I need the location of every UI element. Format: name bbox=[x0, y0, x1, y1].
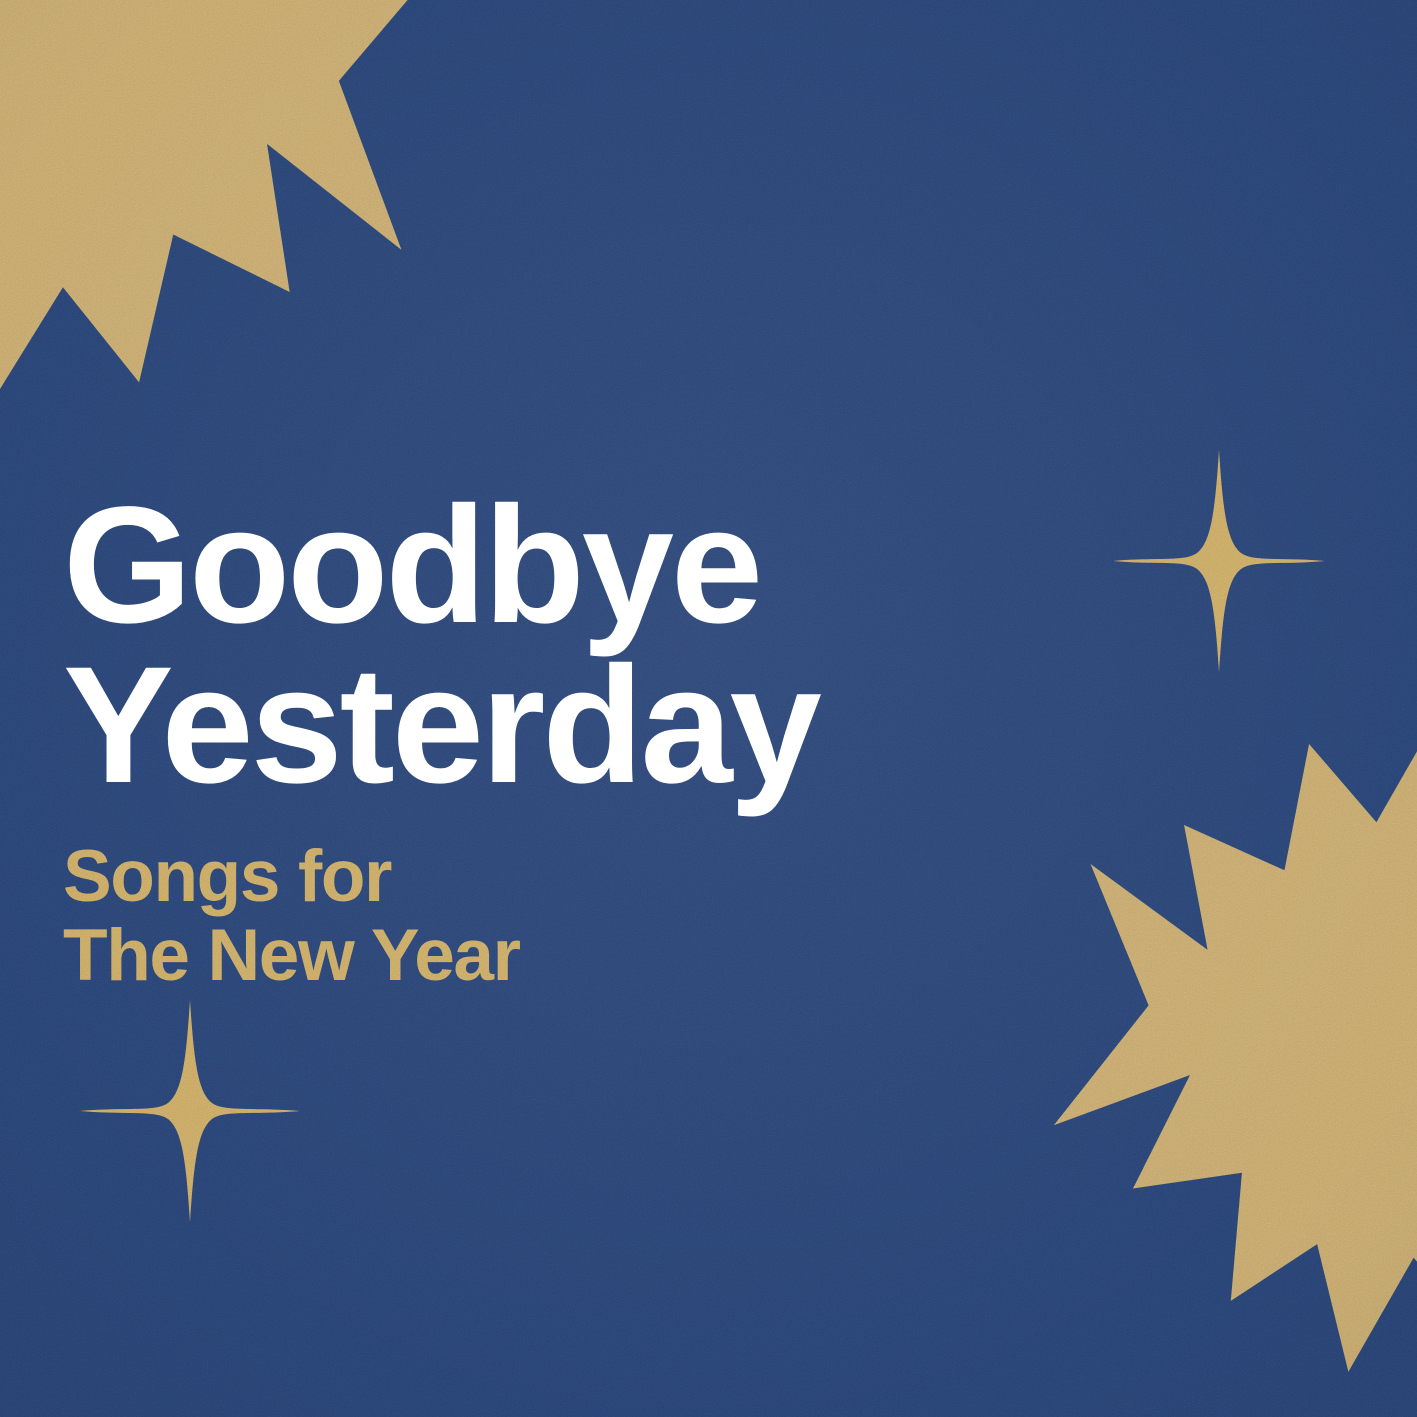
album-title: Goodbye Yesterday bbox=[63, 486, 963, 806]
sparkle-bottom-left-shape bbox=[80, 1000, 300, 1222]
starburst-top-left-shape bbox=[0, 0, 497, 486]
starburst-top-left-icon bbox=[0, 0, 445, 425]
four-point-sparkle-right-icon bbox=[1113, 450, 1325, 672]
album-subtitle: Songs for The New Year bbox=[63, 806, 963, 996]
four-point-sparkle-bottom-left-icon bbox=[80, 1000, 300, 1222]
album-cover-artwork: Goodbye Yesterday Songs for The New Year bbox=[0, 0, 1417, 1417]
starburst-bottom-right-shape bbox=[1026, 663, 1417, 1417]
sparkle-right-shape bbox=[1113, 450, 1325, 672]
starburst-bottom-right-icon bbox=[1060, 705, 1417, 1375]
cover-text-block: Goodbye Yesterday Songs for The New Year bbox=[63, 486, 963, 996]
